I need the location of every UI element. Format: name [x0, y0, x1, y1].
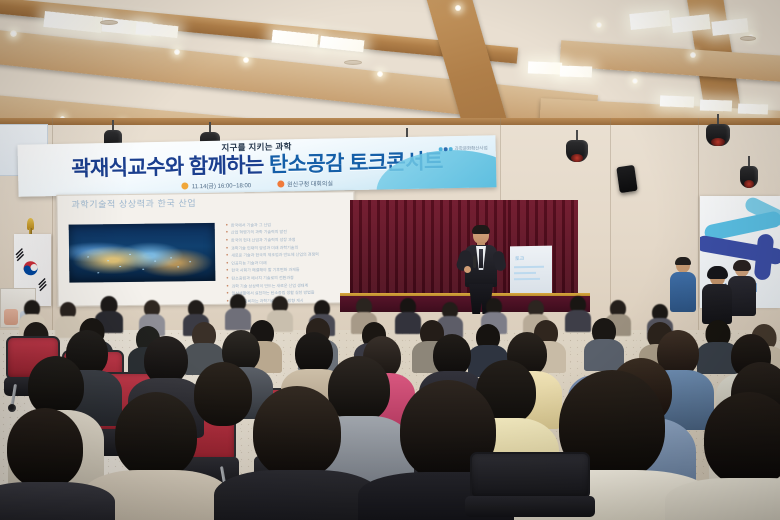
logo-dots-icon — [439, 147, 453, 151]
banner-title-part1: 곽재식교수와 함께하는 — [71, 154, 264, 181]
ceiling-panel-light — [560, 65, 592, 77]
presenter-hand — [464, 266, 471, 273]
recessed-light — [455, 5, 461, 11]
stage-spotlight — [740, 156, 758, 190]
presenter-tie — [479, 249, 483, 268]
ceiling-panel-light — [738, 103, 768, 114]
recessed-light — [243, 57, 249, 63]
presenter-hair — [472, 225, 490, 234]
audience-member-foreground — [0, 408, 100, 520]
clock-dot-icon — [182, 182, 189, 189]
ceiling-vent — [740, 36, 756, 41]
podium-label: 토크 — [515, 255, 524, 262]
ceiling-vent — [344, 60, 362, 65]
recessed-light — [10, 30, 17, 37]
banner-sponsor-logo: 과학문화확산사업 — [439, 145, 488, 152]
event-banner: 지구를 지키는 과학 곽재식교수와 함께하는 탄소공감 토크콘서트 11.14(… — [18, 135, 497, 197]
lecture-hall-photo: 수원시 지구를 지키는 과학 곽재식교수와 함께하는 탄소공감 토크콘서트 11… — [0, 0, 780, 520]
recessed-light — [377, 71, 383, 77]
audience-member-foreground — [232, 386, 362, 520]
staff-person — [668, 258, 698, 320]
audience-member-foreground — [684, 392, 780, 520]
ceiling-panel-light — [528, 61, 562, 74]
banner-title-part2: 탄소공감 토크콘서트 — [269, 150, 443, 176]
recessed-light — [632, 78, 638, 84]
microphone-icon — [473, 256, 476, 268]
ceiling-speaker — [616, 165, 637, 193]
recessed-light — [174, 49, 180, 55]
slide-title: 과학기술적 상상력과 한국 산업 — [71, 196, 196, 211]
ceiling-panel-light — [660, 95, 694, 107]
stage-spotlight — [706, 114, 730, 158]
stage-spotlight — [566, 130, 588, 172]
recessed-light — [690, 52, 696, 58]
recessed-light — [596, 22, 602, 28]
slide-photo — [69, 223, 216, 283]
banner-datetime: 11.14(금) 16:00~18:00 — [182, 180, 251, 190]
banner-logo-text: 과학문화확산사업 — [455, 145, 488, 152]
projection-screen: 과학기술적 상상력과 한국 산업 한국에서 기술과 그 산업 산업 혁명기의 과… — [56, 191, 355, 307]
ceiling-panel-light — [700, 99, 732, 111]
staff-person — [700, 268, 734, 326]
foreground-chair[interactable] — [470, 452, 590, 520]
slide-bullet-list: 한국에서 기술과 그 산업 산업 혁명기의 과학 기술력의 발전 한국의 현대 … — [226, 220, 347, 305]
banner-location: 원신구청 대회의실 — [277, 178, 333, 188]
ceiling-vent — [100, 20, 118, 25]
place-dot-icon — [277, 180, 284, 187]
